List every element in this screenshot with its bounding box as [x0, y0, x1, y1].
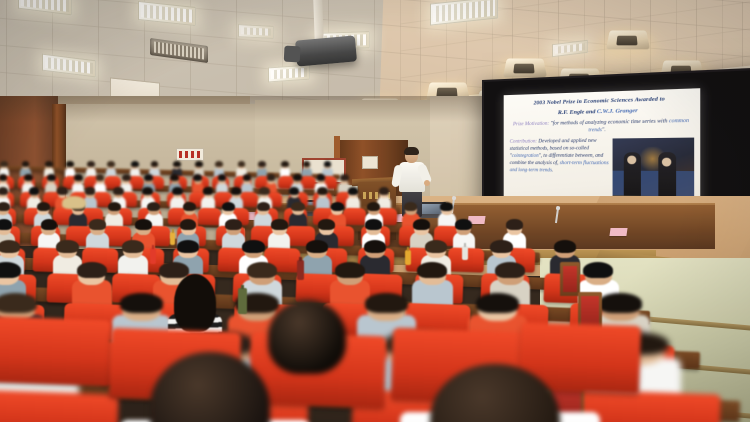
person-hair: [0, 202, 10, 211]
person-hair: [135, 219, 152, 230]
person-hair: [41, 219, 58, 230]
motivation-tail: ".: [602, 128, 606, 133]
person-hair: [173, 161, 181, 167]
person-hair: [225, 219, 242, 230]
person-hair: [0, 219, 12, 230]
auditorium-seat: [0, 389, 119, 422]
person-hair: [66, 161, 74, 167]
person-hair: [365, 293, 409, 313]
person-hair: [151, 161, 159, 167]
person-hair: [598, 293, 642, 313]
person-hair: [96, 174, 105, 181]
speaker-hand: [424, 180, 430, 186]
audience-person: [268, 218, 290, 251]
person-hair: [490, 240, 512, 253]
audience-person: [289, 201, 307, 229]
person-hair: [180, 219, 197, 230]
person-hair: [0, 187, 8, 195]
person-hair: [306, 240, 328, 253]
person-hair: [242, 240, 264, 253]
person-hair: [195, 161, 203, 167]
audience-person: [106, 160, 116, 178]
person-hair: [335, 262, 365, 278]
contribution-label: Contribution:: [510, 139, 537, 144]
laureate-names-highlight: C.W.J. Granger: [597, 108, 638, 115]
person-hair: [417, 262, 447, 278]
thermos-flask: [297, 260, 304, 280]
person-hair: [142, 187, 152, 195]
person-hair: [177, 240, 199, 253]
person-hair: [318, 219, 335, 230]
person-hair: [324, 161, 332, 167]
person-hair: [193, 174, 202, 181]
person-hair: [24, 174, 33, 181]
audience-person: [86, 218, 108, 251]
contribution-highlight-1: cointegration: [512, 154, 539, 159]
person-hair: [404, 202, 417, 211]
audience-person: [118, 238, 148, 277]
audience-person: [216, 174, 228, 194]
person-hair: [144, 174, 153, 181]
person-hair: [258, 161, 266, 167]
auditorium-seat: [198, 208, 221, 226]
person-hair: [413, 219, 430, 230]
person-hair: [183, 202, 196, 211]
water-bottle-orange: [170, 232, 175, 245]
student-with-straw-hat: [62, 196, 86, 218]
person-hair: [113, 187, 123, 195]
person-hair: [554, 240, 576, 253]
person-hair: [122, 174, 131, 181]
photo-head-right: [662, 158, 671, 167]
person-hair: [271, 219, 288, 230]
person-hair: [122, 240, 144, 253]
contribution-tail: .: [552, 168, 553, 173]
person-hair: [0, 161, 8, 167]
person-hair: [215, 161, 223, 167]
door-notice-sheet: [362, 156, 378, 169]
person-hair: [172, 187, 182, 195]
water-bottle-red: [150, 248, 156, 264]
person-hair: [293, 174, 302, 181]
person-hair: [0, 240, 20, 253]
ceiling-projector: [295, 35, 357, 66]
person-hair: [77, 262, 107, 278]
speaker-hair: [404, 147, 419, 155]
person-hair: [289, 187, 299, 195]
person-hair: [455, 219, 472, 230]
audience-person: [72, 260, 113, 308]
person-hair: [203, 187, 213, 195]
person-hair: [37, 202, 50, 211]
person-hair: [317, 174, 326, 181]
panel-light-5: [268, 65, 310, 83]
person-hair: [506, 219, 523, 230]
person-hair: [303, 161, 311, 167]
person-hair: [107, 161, 115, 167]
motivation-label: Prize Motivation:: [513, 121, 549, 127]
audience-person: [201, 186, 215, 210]
person-hair: [0, 293, 37, 313]
person-hair: [364, 240, 386, 253]
person-hair: [0, 174, 7, 181]
person-hair: [583, 262, 613, 278]
person-hair: [74, 174, 83, 181]
person-hair: [425, 240, 447, 253]
person-hair: [340, 174, 349, 181]
person-hair: [47, 174, 56, 181]
person-hair: [291, 202, 304, 211]
person-hair: [379, 187, 389, 195]
person-hair: [89, 219, 106, 230]
slide-motivation: Prize Motivation: "for methods of analyz…: [504, 117, 701, 135]
person-hair: [108, 202, 121, 211]
person-hair: [317, 187, 327, 195]
photo-head-left: [627, 156, 636, 165]
person-hair: [0, 262, 21, 278]
person-hair: [267, 174, 276, 181]
person-hair: [56, 240, 78, 253]
striped-hair: [174, 274, 216, 332]
person-hair: [243, 174, 252, 181]
spot-light-8: [606, 30, 650, 49]
person-hair: [238, 161, 246, 167]
person-hair: [281, 161, 289, 167]
person-hair: [476, 293, 520, 313]
audience-person: [346, 186, 360, 210]
lecture-hall-photo: 2003 Nobel Prize in Economic Sciences Aw…: [0, 0, 750, 422]
audience-person: [412, 260, 453, 308]
person-hair: [257, 202, 270, 211]
person-hair: [331, 202, 344, 211]
person-hair: [22, 161, 30, 167]
motivation-text: "for methods of analyzing economic time …: [549, 119, 668, 127]
water-bottle-clear: [462, 246, 468, 260]
audience-person: [302, 238, 332, 277]
person-hair: [367, 202, 380, 211]
person-hair: [365, 219, 382, 230]
person-hair: [259, 187, 269, 195]
person-hair: [57, 187, 67, 195]
name-card-4: [609, 228, 627, 236]
water-bottle-yellow: [405, 250, 411, 265]
person-hair: [85, 187, 95, 195]
person-hair: [147, 202, 160, 211]
person-hair: [231, 187, 241, 195]
person-hair: [440, 202, 453, 211]
person-hair: [131, 161, 139, 167]
person-hair: [247, 262, 277, 278]
spot-light-5: [503, 58, 547, 77]
seat-end-cap-0: [560, 262, 580, 296]
person-hair: [159, 262, 189, 278]
person-hair: [45, 161, 53, 167]
panel-light-8: [238, 24, 274, 39]
thermos-green: [238, 288, 247, 314]
person-hair: [170, 174, 179, 181]
person-hair: [222, 202, 235, 211]
front-row-seat-0: [0, 316, 111, 386]
person-hair: [120, 293, 164, 313]
slide-contribution: Contribution: Developed and applied new …: [504, 134, 612, 176]
foreground-head-center: [268, 300, 346, 374]
audience-person: [280, 160, 290, 178]
person-hair: [87, 161, 95, 167]
person-hair: [495, 262, 525, 278]
person-hair: [218, 174, 227, 181]
laureate-names-plain: R.F. Engle and: [558, 109, 597, 116]
person-hair: [29, 187, 39, 195]
person-hair: [348, 187, 358, 195]
straw-hat: [62, 196, 86, 209]
